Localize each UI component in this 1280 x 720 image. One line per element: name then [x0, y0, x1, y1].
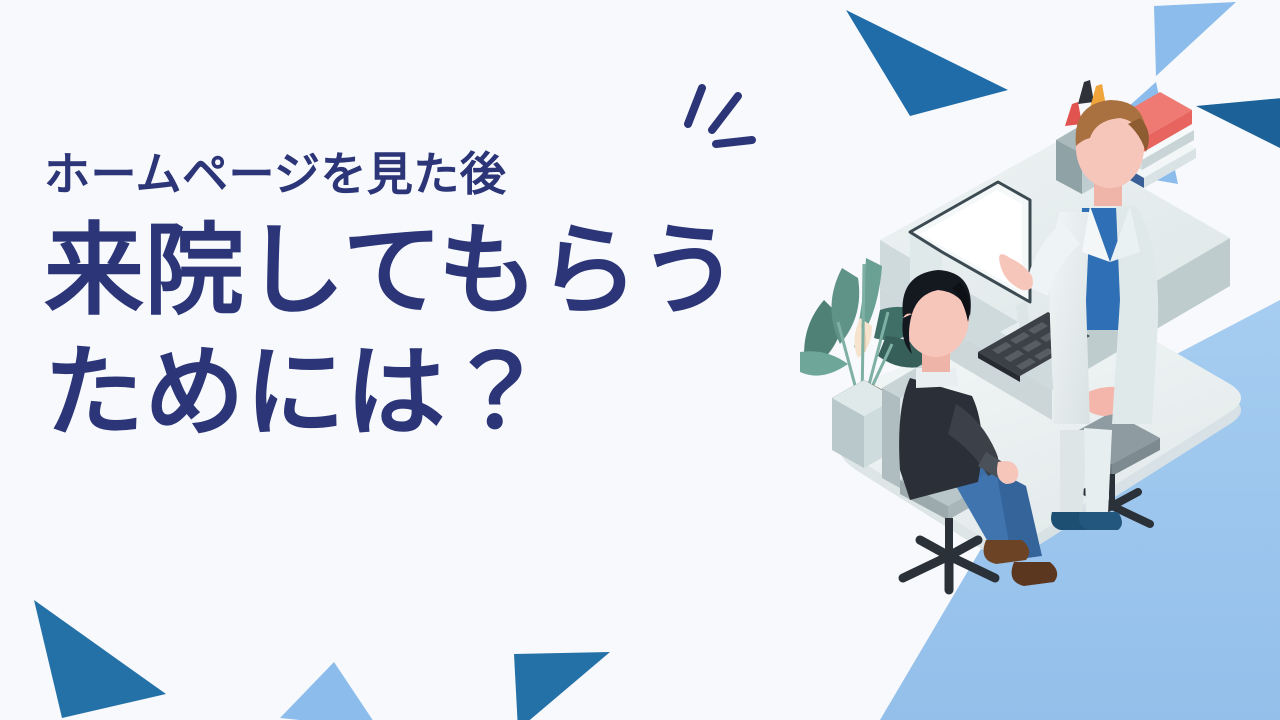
headline-line-1: 来院してもらう: [44, 215, 804, 327]
headline-block: ホームページを見た後 来院してもらう ためには？: [44, 148, 804, 449]
tri-bottom-dark-left: [30, 598, 180, 720]
banner-canvas: ホームページを見た後 来院してもらう ためには？: [0, 0, 1280, 720]
tri-bottom-dark-mid: [512, 652, 612, 720]
tri-bottom-light-mid: [278, 660, 388, 720]
clinic-illustration: [760, 0, 1280, 720]
headline-line-2: ためには？: [44, 337, 804, 449]
emphasis-sparkle-icon: [668, 72, 778, 182]
